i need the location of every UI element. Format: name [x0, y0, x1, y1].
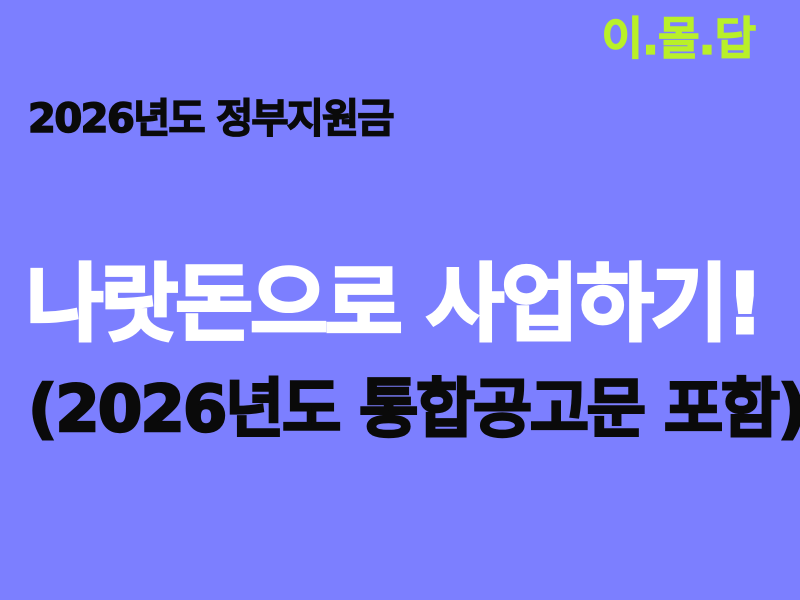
eyebrow-text: 2026년도 정부지원금	[28, 99, 393, 139]
main-headline: 나랏돈으로 사업하기!	[26, 262, 762, 346]
sub-headline: (2026년도 통합공고문 포함)	[28, 378, 800, 442]
brand-logo: 이.몰.답	[602, 16, 755, 61]
poster-canvas: 이.몰.답 2026년도 정부지원금 나랏돈으로 사업하기! (2026년도 통…	[0, 0, 800, 600]
